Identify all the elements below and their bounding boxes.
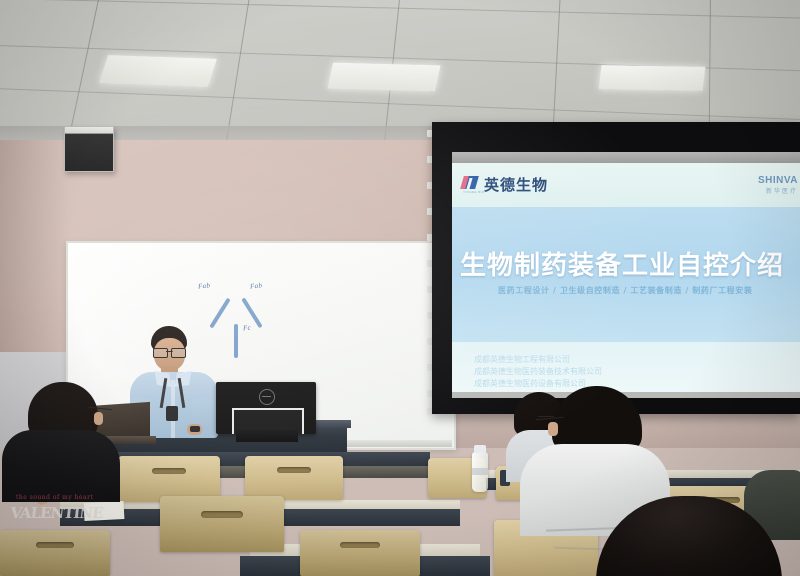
wall-speaker-icon xyxy=(64,126,114,172)
footer-company-line: 成都英德生物医药装备技术有限公司 xyxy=(474,366,800,378)
ceiling-light-panel xyxy=(99,55,217,87)
shinva-brand-cn: 新华医疗 xyxy=(758,186,798,195)
classroom-photo: Fab Fab Fc YINGDE BIO 英德生物 SHINVA xyxy=(0,0,800,576)
student-foreground-head xyxy=(596,496,782,576)
seat-handle-slot xyxy=(36,542,73,548)
company-logo-right: SHINVA 新华医疗 xyxy=(758,175,798,195)
presentation-remote-icon xyxy=(190,426,200,432)
bottle-cap xyxy=(474,445,486,453)
desktop-monitor xyxy=(216,382,316,434)
slide-header: YINGDE BIO 英德生物 SHINVA 新华医疗 xyxy=(452,163,800,207)
student-front-left: the sound of my heart VALENTINE xyxy=(2,382,120,502)
id-badge xyxy=(166,406,178,421)
antibody-label-fc: Fc xyxy=(243,324,252,333)
slide-hero-band: 生物制药装备工业自控介绍 医药工程设计 / 卫生级自控制造 / 工艺装备制造 /… xyxy=(452,207,800,342)
slide-top-bar xyxy=(452,152,800,163)
student-hair xyxy=(596,496,782,576)
seat xyxy=(0,530,110,576)
ceiling-light-panel xyxy=(327,63,440,92)
bottle-label xyxy=(472,468,488,475)
seat xyxy=(160,496,284,552)
seat xyxy=(300,530,420,576)
monitor-brand-icon xyxy=(259,389,275,405)
company-logo-left: YINGDE BIO 英德生物 xyxy=(462,176,548,195)
projection-screen: YINGDE BIO 英德生物 SHINVA 新华医疗 生物制药装备工业自控介绍… xyxy=(432,122,800,414)
glasses-icon xyxy=(153,348,186,356)
slide-title: 生物制药装备工业自控介绍 xyxy=(460,245,800,282)
seat-handle-slot xyxy=(201,511,243,518)
logo-mark-subtext: YINGDE BIO xyxy=(463,190,485,194)
seat-handle-slot xyxy=(152,468,187,474)
student-torso: the sound of my heart VALENTINE xyxy=(2,430,120,502)
antibody-label-right: Fab xyxy=(250,281,263,290)
footer-company-line: 成都英德生物工程有限公司 xyxy=(474,354,800,366)
tee-graphic-text: VALENTINE xyxy=(9,504,108,530)
slide-subtitle: 医药工程设计 / 卫生级自控制造 / 工艺装备制造 / 制药厂工程安装 xyxy=(498,285,800,296)
student-hair xyxy=(552,386,642,452)
seat-handle-slot xyxy=(277,467,310,473)
water-bottle xyxy=(472,452,488,492)
shinva-brand-en: SHINVA xyxy=(758,175,798,186)
tee-small-text: the sound of my heart xyxy=(16,494,93,501)
seat-handle-slot xyxy=(340,542,381,548)
ceiling-light-panel xyxy=(599,65,706,91)
yingde-logo-icon: YINGDE BIO xyxy=(462,176,479,195)
company-name-cn: 英德生物 xyxy=(484,178,548,193)
monitor-stand xyxy=(236,430,298,442)
antibody-label-left: Fab xyxy=(198,281,211,290)
presentation-slide: YINGDE BIO 英德生物 SHINVA 新华医疗 生物制药装备工业自控介绍… xyxy=(452,152,800,398)
seat xyxy=(245,456,343,500)
slide-footer: 成都英德生物工程有限公司 成都英德生物医药装备技术有限公司 成都英德生物医药设备… xyxy=(452,342,800,392)
